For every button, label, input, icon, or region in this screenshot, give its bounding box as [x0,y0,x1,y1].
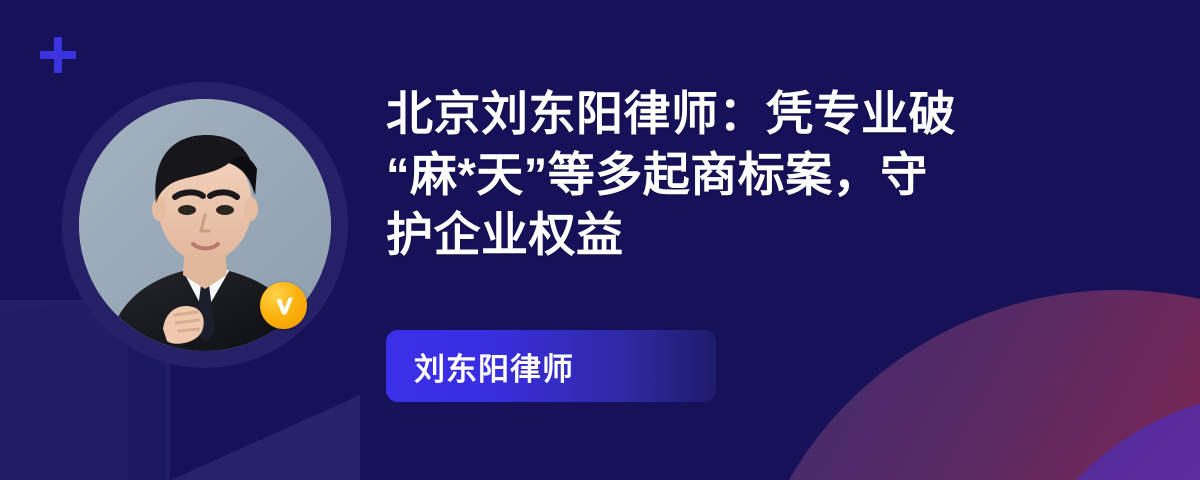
lawyer-name-button[interactable]: 刘东阳律师 [386,330,716,402]
decor-circle-inner [1000,392,1200,480]
promo-banner: 北京刘东阳律师：凭专业破 “麻*天”等多起商标案，守 护企业权益 刘东阳律师 [0,0,1200,480]
page-title: 北京刘东阳律师：凭专业破 “麻*天”等多起商标案，守 护企业权益 [386,84,1066,266]
decor-triangle [160,395,360,480]
headline-block: 北京刘东阳律师：凭专业破 “麻*天”等多起商标案，守 护企业权益 [386,84,1066,266]
decor-circle-outer [738,290,1200,480]
avatar [62,82,348,368]
verified-v-icon [260,282,307,329]
plus-icon [40,37,76,73]
